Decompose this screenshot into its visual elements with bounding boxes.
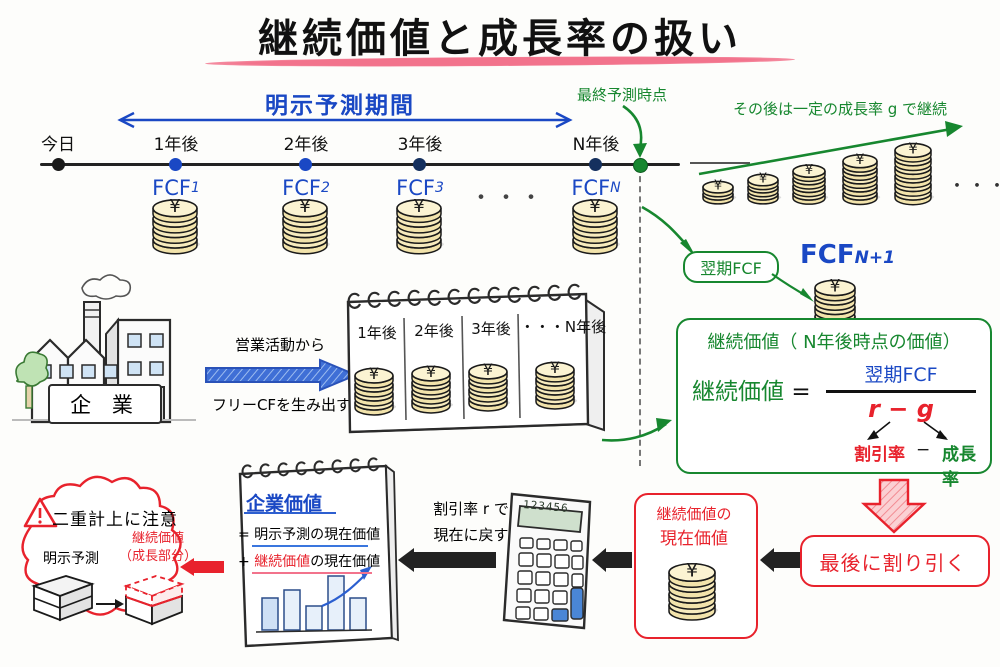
growth-coin-stack-1: ¥ xyxy=(700,160,740,208)
calendar-coin-stack-1: ¥ xyxy=(352,362,400,418)
svg-text:¥: ¥ xyxy=(169,196,180,217)
fcf-subscript: 1 xyxy=(191,180,200,196)
coin-stack-fcfn: ¥ xyxy=(570,196,626,256)
timeline-dot-today[interactable] xyxy=(52,158,65,171)
growth-coin-stack-3: ¥ xyxy=(790,140,832,208)
coin-stack-fcf3: ¥ xyxy=(394,196,450,256)
timeline-dot-y3[interactable] xyxy=(413,158,426,171)
svg-text:¥: ¥ xyxy=(714,179,722,194)
denominator-operator: − xyxy=(916,440,930,460)
fcf-n-plus-1-label: FCFN+1 xyxy=(800,240,895,270)
timeline-label-y2: 2年後 xyxy=(256,130,356,155)
arrow-calculator-to-notepad xyxy=(398,548,498,576)
fcf-subscript: 3 xyxy=(435,180,444,196)
warning-right-label-2: （成長部分） xyxy=(112,545,204,564)
timeline-axis xyxy=(40,163,680,166)
operating-activity-label: 営業活動から xyxy=(205,334,355,355)
svg-text:¥: ¥ xyxy=(908,139,918,157)
formula-lhs: 継続価値 = xyxy=(692,372,811,406)
svg-text:¥: ¥ xyxy=(686,559,698,581)
formula-lhs-text: 継続価値 xyxy=(692,379,784,405)
coin-stack-fcf1: ¥ xyxy=(150,196,206,256)
next-period-fcf-tag: 翌期FCF xyxy=(683,251,779,283)
growth-coin-stack-4: ¥ xyxy=(840,128,884,208)
notepad-line-3-highlight: 継続価値 xyxy=(254,554,310,570)
svg-text:¥: ¥ xyxy=(426,362,436,381)
notepad-line-3: + 継続価値の現在価値 xyxy=(238,551,380,571)
svg-text:¥: ¥ xyxy=(759,172,767,187)
growth-coin-stack-2: ¥ xyxy=(745,150,785,208)
pv-coin-stack: ¥ xyxy=(666,556,724,622)
continuing-value-formula-box: 継続価値（ N年後時点の価値） 継続価値 = 翌期FCF r − g 割引率 −… xyxy=(676,318,992,474)
growth-rate-label: 成長率 xyxy=(942,440,990,490)
svg-text:¥: ¥ xyxy=(805,163,813,178)
page-title: 継続価値と成長率の扱い xyxy=(0,6,1000,64)
svg-text:¥: ¥ xyxy=(413,196,424,217)
timeline-label-y3: 3年後 xyxy=(370,130,470,155)
formula-fraction: 翌期FCF r − g xyxy=(826,360,976,423)
perpetual-growth-note: その後は一定の成長率 g で継続 xyxy=(695,98,985,119)
pv-label-line2: 現在価値 xyxy=(634,524,754,549)
warning-left-label: 明示予測 xyxy=(34,548,108,568)
arrow-last-to-pv xyxy=(760,548,802,576)
calendar-coin-stack-3: ¥ xyxy=(466,358,514,414)
calendar-to-formula-arrow xyxy=(600,396,680,446)
coin-stack-fcf2: ¥ xyxy=(280,196,336,256)
svg-text:¥: ¥ xyxy=(299,196,310,217)
final-discount-step-label: 最後に割り引く xyxy=(800,547,986,576)
back-to-present-line1: 割引率 r で xyxy=(411,498,531,519)
calendar-col-label-1: 1年後 xyxy=(348,322,406,343)
timeline-dot-yn[interactable] xyxy=(589,158,602,171)
svg-text:¥: ¥ xyxy=(856,152,865,168)
back-to-present-line2: 現在に戻す xyxy=(411,524,531,545)
timeline-dot-y1[interactable] xyxy=(169,158,182,171)
final-point-arrow xyxy=(615,104,665,160)
notepad-line-2: = 明示予測の現在価値 xyxy=(238,524,380,544)
company-label: 企 業 xyxy=(48,384,162,424)
warning-right-label-1: 継続価値 xyxy=(112,527,204,546)
fcf-subscript: 2 xyxy=(321,180,330,196)
fraction-bar xyxy=(826,390,976,393)
growth-ellipsis: ・・・ xyxy=(948,172,1000,198)
svg-text:¥: ¥ xyxy=(369,364,379,383)
fcf-subscript: N+1 xyxy=(855,248,895,268)
timeline-dot-y2[interactable] xyxy=(299,158,312,171)
timeline-dot-final[interactable] xyxy=(633,158,648,173)
formula-equals: = xyxy=(791,379,810,405)
diagram-canvas: 継続価値と成長率の扱い 明示予測期間 今日 1年後 FCF1 2年後 FCF2 … xyxy=(0,0,1000,667)
calendar-col-label-n: ・・・N年後 xyxy=(518,316,608,337)
explicit-period-arrow xyxy=(110,108,580,132)
svg-text:¥: ¥ xyxy=(830,276,841,296)
svg-text:¥: ¥ xyxy=(589,196,600,217)
final-forecast-point-label: 最終予測時点 xyxy=(552,84,692,105)
formula-denominator: r − g xyxy=(826,395,976,423)
notepad-title-underline xyxy=(244,512,336,514)
notepad-line-3-rest: の現在価値 xyxy=(310,554,380,570)
timeline-label-today: 今日 xyxy=(8,130,108,155)
growth-coin-stack-5: ¥ xyxy=(892,118,938,208)
pv-label-line1: 継続価値の xyxy=(634,503,754,524)
calendar-col-label-3: 3年後 xyxy=(462,318,520,339)
discount-rate-label: 割引率 xyxy=(854,440,905,465)
calendar-coin-stack-n: ¥ xyxy=(533,356,581,412)
formula-box-title: 継続価値（ N年後時点の価値） xyxy=(678,328,990,354)
svg-text:¥: ¥ xyxy=(550,358,560,377)
timeline-label-y1: 1年後 xyxy=(126,130,226,155)
discount-down-arrow xyxy=(860,478,930,534)
notepad-line-3-underline xyxy=(252,572,372,574)
calendar-col-label-2: 2年後 xyxy=(405,320,463,341)
fcf-text: FCF xyxy=(800,240,855,270)
calendar-coin-stack-2: ¥ xyxy=(409,360,457,416)
notepad-line-2-underline xyxy=(252,545,368,547)
formula-numerator: 翌期FCF xyxy=(826,360,976,387)
fcf-subscript: N xyxy=(610,180,620,196)
warning-blocks-illustration xyxy=(30,566,190,632)
svg-text:¥: ¥ xyxy=(483,360,493,379)
